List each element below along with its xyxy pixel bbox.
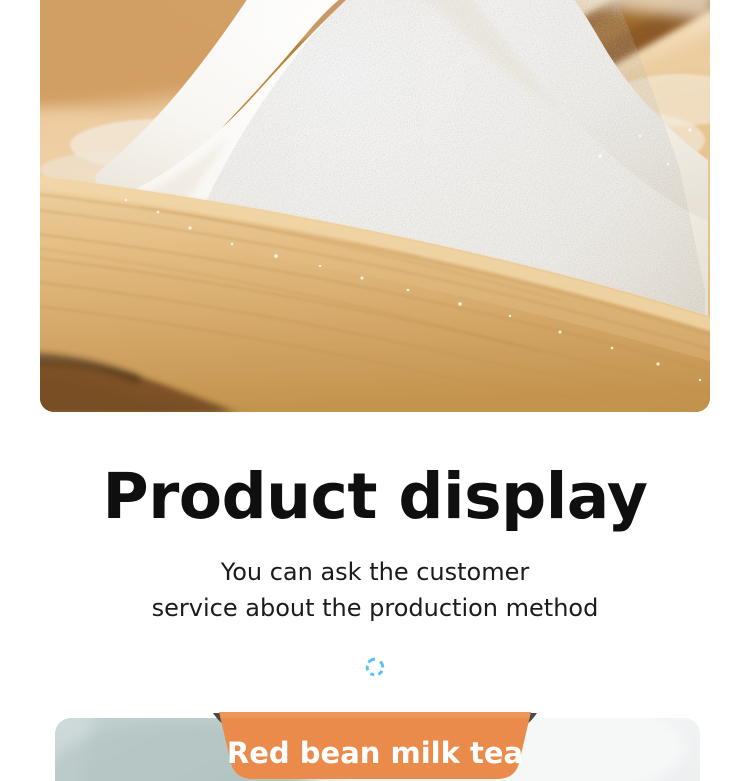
hero-product-image [40, 0, 710, 412]
loading-indicator [0, 656, 750, 678]
subtitle-line-1: You can ask the customer [0, 554, 750, 590]
title-block: Product display You can ask the customer… [0, 462, 750, 626]
ribbon-label: Red bean milk tea [205, 711, 545, 781]
product-name-ribbon: Red bean milk tea [205, 711, 545, 781]
page-title: Product display [0, 462, 750, 532]
page-subtitle: You can ask the customer service about t… [0, 532, 750, 626]
loading-spinner-icon [364, 656, 386, 678]
product-display-page: Product display You can ask the customer… [0, 0, 750, 781]
subtitle-line-2: service about the production method [0, 590, 750, 626]
hero-image-graphic [40, 0, 710, 412]
